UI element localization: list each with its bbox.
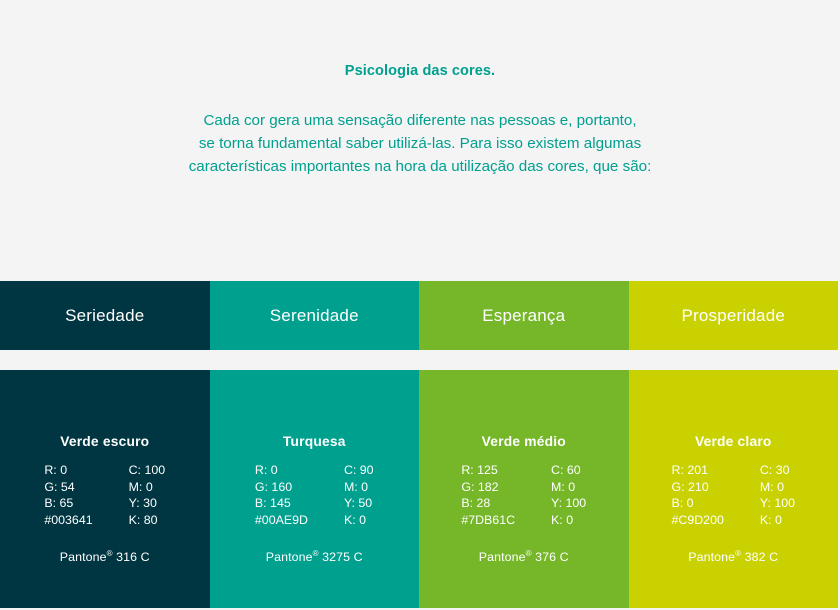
rgb-b: B: 28 (461, 495, 515, 512)
color-band-serenidade: Serenidade (210, 281, 420, 350)
color-band-seriedade: Seriedade (0, 281, 210, 350)
band-label: Prosperidade (681, 306, 785, 326)
rgb-values: R: 201 G: 210 B: 0 #C9D200 (672, 462, 724, 528)
color-values: R: 201 G: 210 B: 0 #C9D200 C: 30 M: 0 Y:… (629, 462, 839, 528)
pantone-prefix: Pantone (60, 550, 107, 564)
color-card-title: Verde escuro (0, 370, 210, 449)
color-band-prosperidade: Prosperidade (629, 281, 839, 350)
band-label: Serenidade (270, 306, 359, 326)
cmyk-y: Y: 50 (344, 495, 374, 512)
rgb-b: B: 65 (44, 495, 92, 512)
color-card-row: Verde escuro R: 0 G: 54 B: 65 #003641 C:… (0, 370, 838, 608)
cmyk-c: C: 30 (760, 462, 795, 479)
cmyk-y: Y: 100 (551, 495, 586, 512)
rgb-g: G: 182 (461, 479, 515, 496)
pantone-reference: Pantone® 316 C (0, 550, 210, 564)
color-card-verde-escuro: Verde escuro R: 0 G: 54 B: 65 #003641 C:… (0, 370, 210, 608)
cmyk-k: K: 0 (551, 512, 586, 529)
intro-section: Psicologia das cores. Cada cor gera uma … (0, 0, 840, 278)
intro-paragraph-line-1: Cada cor gera uma sensação diferente nas… (0, 109, 840, 132)
band-label: Seriedade (65, 306, 144, 326)
color-card-verde-claro: Verde claro R: 201 G: 210 B: 0 #C9D200 C… (629, 370, 839, 608)
cmyk-m: M: 0 (551, 479, 586, 496)
rgb-values: R: 0 G: 54 B: 65 #003641 (44, 462, 92, 528)
rgb-r: R: 0 (255, 462, 308, 479)
color-card-title: Turquesa (210, 370, 420, 449)
pantone-prefix: Pantone (688, 550, 735, 564)
cmyk-values: C: 60 M: 0 Y: 100 K: 0 (551, 462, 586, 528)
cmyk-k: K: 80 (129, 512, 166, 529)
color-band-row: Seriedade Serenidade Esperança Prosperid… (0, 281, 838, 350)
pantone-prefix: Pantone (266, 550, 313, 564)
intro-paragraph-line-3: características importantes na hora da u… (0, 155, 840, 178)
pantone-reference: Pantone® 376 C (419, 550, 629, 564)
rgb-b: B: 145 (255, 495, 308, 512)
color-values: R: 0 G: 160 B: 145 #00AE9D C: 90 M: 0 Y:… (210, 462, 420, 528)
pantone-prefix: Pantone (479, 550, 526, 564)
rgb-g: G: 210 (672, 479, 724, 496)
intro-paragraph-line-2: se torna fundamental saber utilizá-las. … (0, 132, 840, 155)
cmyk-y: Y: 100 (760, 495, 795, 512)
hex-value: #7DB61C (461, 512, 515, 529)
cmyk-c: C: 100 (129, 462, 166, 479)
pantone-code: 376 C (532, 550, 569, 564)
color-card-title: Verde claro (629, 370, 839, 449)
rgb-r: R: 0 (44, 462, 92, 479)
color-card-title: Verde médio (419, 370, 629, 449)
color-card-verde-medio: Verde médio R: 125 G: 182 B: 28 #7DB61C … (419, 370, 629, 608)
rgb-values: R: 125 G: 182 B: 28 #7DB61C (461, 462, 515, 528)
pantone-reference: Pantone® 382 C (629, 550, 839, 564)
band-label: Esperança (482, 306, 565, 326)
color-values: R: 125 G: 182 B: 28 #7DB61C C: 60 M: 0 Y… (419, 462, 629, 528)
page-title: Psicologia das cores. (0, 0, 840, 79)
cmyk-values: C: 90 M: 0 Y: 50 K: 0 (344, 462, 374, 528)
cmyk-c: C: 60 (551, 462, 586, 479)
rgb-b: B: 0 (672, 495, 724, 512)
color-band-esperanca: Esperança (419, 281, 629, 350)
cmyk-m: M: 0 (344, 479, 374, 496)
cmyk-values: C: 100 M: 0 Y: 30 K: 80 (129, 462, 166, 528)
cmyk-k: K: 0 (344, 512, 374, 529)
hex-value: #00AE9D (255, 512, 308, 529)
rgb-r: R: 125 (461, 462, 515, 479)
cmyk-k: K: 0 (760, 512, 795, 529)
rgb-r: R: 201 (672, 462, 724, 479)
color-card-turquesa: Turquesa R: 0 G: 160 B: 145 #00AE9D C: 9… (210, 370, 420, 608)
rgb-g: G: 160 (255, 479, 308, 496)
hex-value: #C9D200 (672, 512, 724, 529)
color-psychology-page: Psicologia das cores. Cada cor gera uma … (0, 0, 840, 610)
pantone-code: 382 C (741, 550, 778, 564)
cmyk-values: C: 30 M: 0 Y: 100 K: 0 (760, 462, 795, 528)
intro-paragraph: Cada cor gera uma sensação diferente nas… (0, 79, 840, 178)
cmyk-m: M: 0 (760, 479, 795, 496)
rgb-g: G: 54 (44, 479, 92, 496)
pantone-code: 3275 C (319, 550, 363, 564)
rgb-values: R: 0 G: 160 B: 145 #00AE9D (255, 462, 308, 528)
cmyk-y: Y: 30 (129, 495, 166, 512)
hex-value: #003641 (44, 512, 92, 529)
cmyk-c: C: 90 (344, 462, 374, 479)
pantone-code: 316 C (113, 550, 150, 564)
pantone-reference: Pantone® 3275 C (210, 550, 420, 564)
color-values: R: 0 G: 54 B: 65 #003641 C: 100 M: 0 Y: … (0, 462, 210, 528)
cmyk-m: M: 0 (129, 479, 166, 496)
